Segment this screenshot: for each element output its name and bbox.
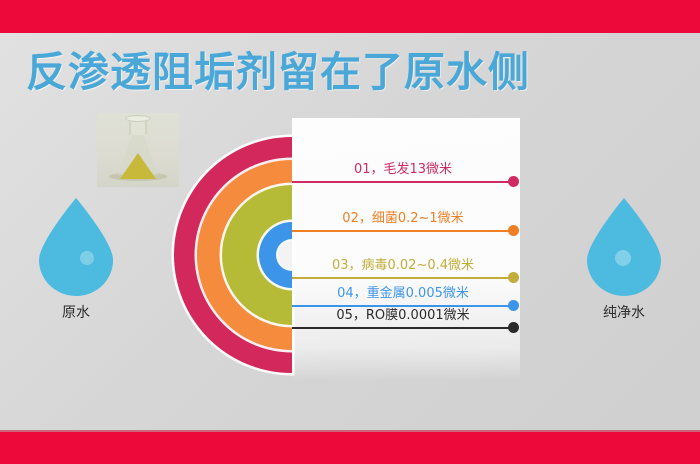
droplet-shape-right bbox=[581, 196, 667, 296]
droplet-shape-left bbox=[33, 196, 119, 296]
bottom-red-bar bbox=[0, 432, 700, 464]
top-red-bar bbox=[0, 0, 700, 33]
legend-label-05: 05，RO膜0.0001微米 bbox=[292, 304, 514, 323]
droplet-pure-water: 纯净水 bbox=[564, 196, 684, 322]
slide-canvas: 反渗透阻垢剂留在了原水侧 01，毛发13微米02，细菌0.2~1微米03，病毒0… bbox=[0, 0, 700, 464]
droplet-left-label: 原水 bbox=[16, 302, 136, 322]
legend-label-01: 01，毛发13微米 bbox=[292, 158, 514, 177]
legend-label-04: 04，重金属0.005微米 bbox=[292, 282, 514, 301]
legend-line-03 bbox=[292, 277, 510, 279]
legend-dot-05 bbox=[508, 322, 519, 333]
legend-line-01 bbox=[292, 181, 510, 183]
water-drop-icon bbox=[33, 196, 119, 296]
legend-label-03: 03，病毒0.02~0.4微米 bbox=[292, 254, 514, 273]
filtration-rings bbox=[174, 137, 292, 375]
legend-line-05 bbox=[292, 327, 510, 329]
legend-dot-02 bbox=[508, 225, 519, 236]
flask-liquid bbox=[120, 153, 156, 179]
droplet-right-label: 纯净水 bbox=[564, 302, 684, 322]
legend-line-02 bbox=[292, 230, 510, 232]
antiscalant-flask-photo bbox=[97, 113, 179, 187]
flask-lip bbox=[126, 115, 151, 122]
water-drop-icon bbox=[581, 196, 667, 296]
legend-dot-01 bbox=[508, 176, 519, 187]
page-title: 反渗透阻垢剂留在了原水侧 bbox=[26, 52, 530, 93]
droplet-raw-water: 原水 bbox=[16, 196, 136, 322]
legend-label-02: 02，细菌0.2~1微米 bbox=[292, 207, 514, 226]
